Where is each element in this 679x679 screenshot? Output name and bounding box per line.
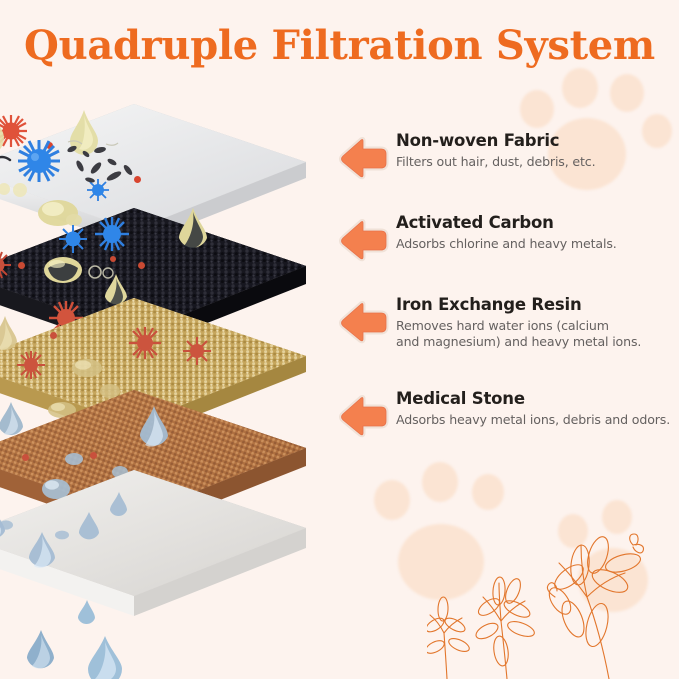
label-text-block: Iron Exchange Resin Removes hard water i… [390,296,641,350]
paw-print-watermark-bottom-center [368,452,548,612]
particle-water-droplet [0,314,20,354]
particle-water-droplet [136,404,172,450]
label-row-activated-carbon[interactable]: Activated Carbon Adsorbs chlorine and he… [338,214,679,262]
particle-virus-blue [94,216,130,252]
label-text-block: Non-woven Fabric Filters out hair, dust,… [390,132,595,170]
particle-hair-debris [62,140,142,190]
particle-water-droplet [0,518,16,532]
page-title: Quadruple Filtration System [0,22,679,69]
particle-dust [50,332,57,339]
layer-heading: Iron Exchange Resin [396,296,641,315]
particle-water-droplet [108,490,130,518]
layer-heading: Activated Carbon [396,214,617,233]
particle-virus-red [0,250,12,280]
paw-toe [520,90,554,128]
paw-toe [602,500,632,534]
paw-pad [398,524,484,600]
layer-slab-base-pad [0,462,298,672]
particle-dust [138,262,145,269]
particle-virus-red [182,336,212,366]
paw-toe [558,514,588,548]
arrow-left-icon[interactable] [338,218,390,262]
arrow-left-icon[interactable] [338,136,390,180]
particle-micro-bubble [86,262,120,282]
particle-virus-red [128,326,162,360]
paw-toe [562,68,598,108]
arrow-left-icon[interactable] [338,300,390,344]
filter-layer-stack-illustration [0,96,338,656]
falling-water-droplet [76,598,98,626]
infographic-canvas: Quadruple Filtration System [0,0,679,679]
paw-toe [610,74,644,112]
label-text-block: Activated Carbon Adsorbs chlorine and he… [390,214,617,252]
particle-virus-blue [16,138,62,184]
falling-water-droplet [24,628,58,670]
label-row-iron-exchange-resin[interactable]: Iron Exchange Resin Removes hard water i… [338,296,679,350]
particle-water-droplet [70,354,106,380]
paw-pad [578,548,648,612]
particle-oil-droplet [42,250,86,286]
paw-toe [422,462,458,502]
label-row-medical-stone[interactable]: Medical Stone Adsorbs heavy metal ions, … [338,390,679,438]
particle-water-droplet [0,400,26,438]
layer-description: Filters out hair, dust, debris, etc. [396,154,595,170]
label-text-block: Medical Stone Adsorbs heavy metal ions, … [390,390,670,428]
particle-water-droplet [76,510,102,542]
particle-dust [90,452,97,459]
botanical-sprig-decoration [427,479,677,679]
paw-toe [472,474,504,510]
layer-description: Adsorbs chlorine and heavy metals. [396,236,617,252]
particle-hair-strand [0,152,12,174]
arrow-left-icon[interactable] [338,394,390,438]
particle-micro-bubble [0,180,32,198]
particle-water-droplet [54,528,72,542]
particle-dust [18,262,25,269]
layer-heading: Medical Stone [396,390,670,409]
particle-oil-droplet [0,98,6,154]
layer-heading: Non-woven Fabric [396,132,595,151]
layer-description: Adsorbs heavy metal ions, debris and odo… [396,412,670,428]
label-row-non-woven-fabric[interactable]: Non-woven Fabric Filters out hair, dust,… [338,132,679,180]
falling-water-droplet [84,634,126,679]
layer-description-line-1: Removes hard water ions (calcium [396,318,641,334]
particle-virus-red [16,350,46,380]
particle-dust [22,454,29,461]
paw-print-watermark-right [556,498,679,628]
layer-description-line-2: and magnesium) and heavy metal ions. [396,334,641,350]
paw-toe [374,480,410,520]
particle-oil-droplet [176,206,210,250]
